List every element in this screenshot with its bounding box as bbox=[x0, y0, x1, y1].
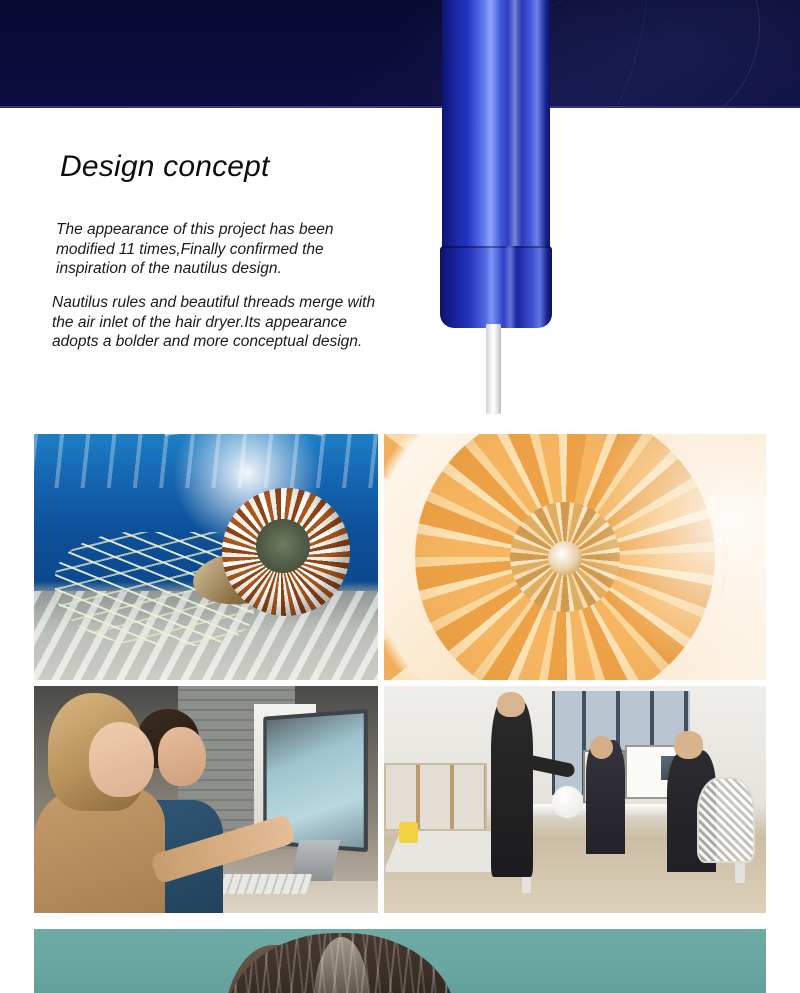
keyboard-detail bbox=[210, 874, 313, 894]
concept-paragraph-1: The appearance of this project has been … bbox=[52, 220, 460, 279]
concept-paragraph-2: Nautilus rules and beautiful threads mer… bbox=[52, 293, 460, 352]
male-colleague-face bbox=[158, 727, 206, 786]
mesh-office-chair bbox=[697, 777, 754, 863]
banner-bottom-edge bbox=[0, 106, 800, 108]
product-hero-banner bbox=[0, 0, 800, 108]
foreground-worker-head bbox=[674, 731, 703, 758]
model-photo-teal bbox=[34, 929, 766, 993]
shell-spiral-core bbox=[548, 541, 582, 575]
standing-worker-body bbox=[491, 700, 533, 877]
sphere-lamp-detail bbox=[552, 786, 583, 818]
concept-body: The appearance of this project has been … bbox=[52, 220, 460, 352]
female-colleague-face bbox=[89, 722, 154, 797]
seated-worker-head bbox=[590, 736, 613, 759]
office-shelving-detail bbox=[384, 763, 487, 831]
model-hair bbox=[226, 933, 456, 993]
photo-nautilus-shell-section bbox=[384, 434, 766, 680]
page-title: Design concept bbox=[60, 150, 460, 184]
inspiration-photo-grid bbox=[34, 434, 766, 913]
photo-grid-row bbox=[34, 686, 766, 913]
photo-team-imac bbox=[34, 686, 378, 913]
photo-team-office bbox=[384, 686, 766, 913]
nautilus-striped-shell bbox=[222, 488, 350, 616]
design-concept-section: Design concept The appearance of this pr… bbox=[0, 150, 460, 366]
photo-grid-row bbox=[34, 434, 766, 680]
shell-backlight-glow bbox=[590, 434, 766, 680]
yellow-accent-object bbox=[399, 822, 418, 842]
photo-nautilus-live bbox=[34, 434, 378, 680]
dryer-power-cable bbox=[486, 324, 501, 414]
standing-worker-head bbox=[497, 692, 526, 717]
